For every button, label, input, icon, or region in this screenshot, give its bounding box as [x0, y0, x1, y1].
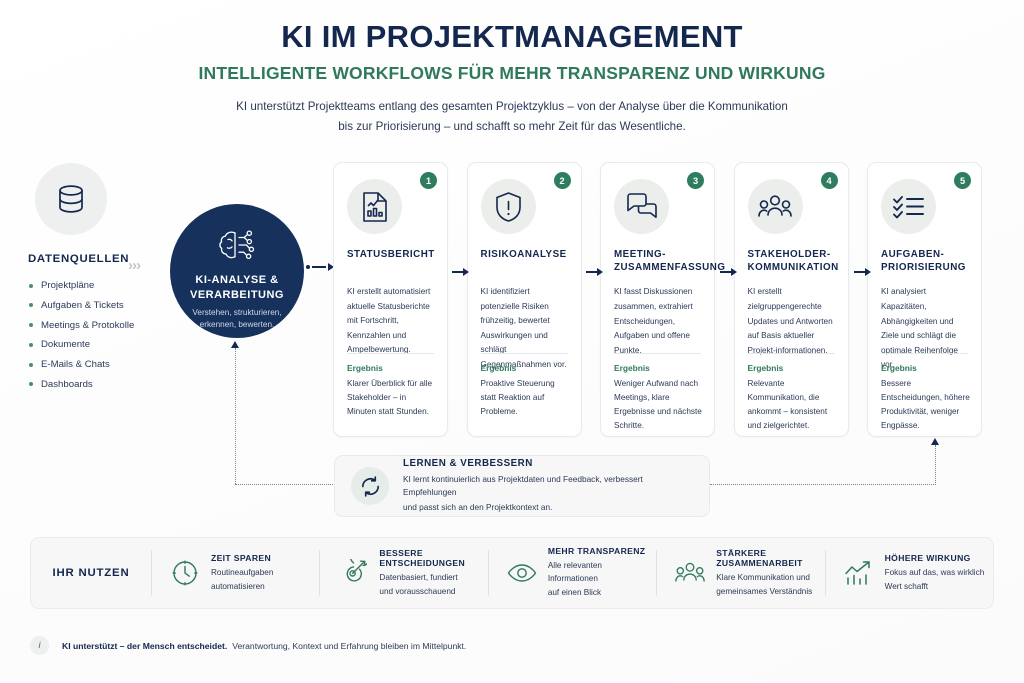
card-title: RISIKOANALYSE — [481, 248, 568, 274]
core-to-card-arrow-icon — [306, 263, 334, 271]
database-icon — [35, 163, 107, 235]
benefit-line-2: automatisieren — [211, 581, 273, 594]
card-result: Ergebnis Weniger Aufwand nach Meetings, … — [614, 363, 703, 433]
benefit-text-block: STÄRKERE ZUSAMMENARBEIT Klare Kommunikat… — [716, 548, 816, 598]
result-text: Relevante Kommunikation, die ankommt – k… — [748, 377, 837, 433]
shield-alert-icon — [481, 179, 536, 234]
list-item: Dashboards — [28, 375, 148, 395]
result-label: Ergebnis — [347, 363, 436, 373]
card-body: KI fasst Diskussionen zusammen, extrahie… — [614, 285, 701, 358]
ai-core-subtitle: Verstehen, strukturieren, erkennen, bewe… — [170, 307, 304, 330]
benefits-bar: IHR NUTZEN ZEIT SPAREN Routineaufgaben a… — [30, 537, 994, 609]
footer-strong-text: KI unterstützt – der Mensch entscheidet. — [62, 641, 227, 651]
card-connector-arrow-icon — [452, 268, 469, 276]
feedback-arrow-head-right-icon — [931, 438, 939, 445]
ai-core-node: KI-ANALYSE & VERARBEITUNG Verstehen, str… — [170, 204, 304, 338]
card-title: STAKEHOLDER-KOMMUNIKATION — [748, 248, 835, 274]
list-item: Dokumente — [28, 335, 148, 355]
data-sources-panel: DATENQUELLEN Projektpläne Aufgaben & Tic… — [28, 163, 148, 395]
benefit-line-2: auf einen Blick — [548, 587, 648, 600]
card-divider — [881, 353, 968, 354]
card-body: KI erstellt automatisiert aktuelle Statu… — [347, 285, 434, 358]
list-item: Projektpläne — [28, 276, 148, 296]
benefit-item-hoehere-wirkung: HÖHERE WIRKUNG Fokus auf das, was wirkli… — [825, 550, 993, 596]
growth-chart-icon — [844, 560, 874, 586]
header: KI IM PROJEKTMANAGEMENT INTELLIGENTE WOR… — [0, 20, 1024, 138]
process-card-aufgaben-priorisierung[interactable]: 5 AUFGABEN-PRIORISIERUNG KI analysiert K… — [867, 162, 982, 437]
benefit-text-block: HÖHERE WIRKUNG Fokus auf das, was wirkli… — [885, 553, 985, 593]
learning-loop-title: LERNEN & VERBESSERN — [403, 458, 693, 469]
result-label: Ergebnis — [748, 363, 837, 373]
page-subtitle: INTELLIGENTE WORKFLOWS FÜR MEHR TRANSPAR… — [0, 63, 1024, 84]
benefit-item-mehr-transparenz: MEHR TRANSPARENZ Alle relevanten Informa… — [488, 550, 656, 596]
process-card-stakeholder-kommunikation[interactable]: 4 STAKEHOLDER-KOMMUNIKATION KI erstellt … — [734, 162, 849, 437]
benefit-line-2: Wert schafft — [885, 581, 985, 594]
card-body: KI identifiziert potenzielle Risiken frü… — [481, 285, 568, 373]
benefit-title: BESSERE ENTSCHEIDUNGEN — [379, 548, 479, 568]
people-group-icon — [675, 561, 705, 585]
step-badge: 4 — [821, 172, 838, 189]
benefit-title: ZEIT SPAREN — [211, 553, 273, 563]
learning-loop-panel: LERNEN & VERBESSERN KI lernt kontinuierl… — [334, 455, 710, 517]
refresh-cycle-icon — [351, 467, 389, 505]
step-badge: 2 — [554, 172, 571, 189]
infographic-root: KI IM PROJEKTMANAGEMENT INTELLIGENTE WOR… — [0, 0, 1024, 683]
ai-brain-circuit-icon — [170, 226, 304, 266]
card-connector-arrow-icon — [854, 268, 871, 276]
benefit-text-block: ZEIT SPAREN Routineaufgaben automatisier… — [211, 553, 273, 593]
result-label: Ergebnis — [881, 363, 970, 373]
process-card-risikoanalyse[interactable]: 2 RISIKOANALYSE KI identifiziert potenzi… — [467, 162, 582, 437]
card-divider — [481, 353, 568, 354]
benefit-line-1: Routineaufgaben — [211, 567, 273, 580]
process-card-statusbericht[interactable]: 1 STATUSBERICHT KI erstellt automatisier… — [333, 162, 448, 437]
benefit-title: HÖHERE WIRKUNG — [885, 553, 985, 563]
intro-line-2: bis zur Priorisierung – und schafft so m… — [212, 117, 812, 137]
benefit-line-1: Fokus auf das, was wirklich — [885, 567, 985, 580]
ai-core-title-line-2: VERARBEITUNG — [170, 288, 304, 303]
card-result: Ergebnis Bessere Entscheidungen, höhere … — [881, 363, 970, 433]
ai-core-title-line-1: KI-ANALYSE & — [170, 273, 304, 288]
eye-icon — [507, 562, 537, 584]
footer-note: i KI unterstützt – der Mensch entscheide… — [30, 636, 466, 655]
process-cards: 1 STATUSBERICHT KI erstellt automatisier… — [333, 162, 993, 437]
list-item: E-Mails & Chats — [28, 355, 148, 375]
benefit-line-2: gemeinsames Verständnis — [716, 586, 816, 599]
benefit-item-staerkere-zusammenarbeit: STÄRKERE ZUSAMMENARBEIT Klare Kommunikat… — [656, 550, 824, 596]
benefit-line-1: Alle relevanten Informationen — [548, 560, 648, 585]
list-item: Meetings & Protokolle — [28, 316, 148, 336]
people-group-icon — [748, 179, 803, 234]
card-body: KI erstellt zielgruppengerechte Updates … — [748, 285, 835, 358]
benefit-title: STÄRKERE ZUSAMMENARBEIT — [716, 548, 816, 568]
feedback-path-right-horizontal — [710, 484, 936, 485]
learning-loop-line-2: und passt sich an den Projektkontext an. — [403, 501, 693, 514]
data-sources-list: Projektpläne Aufgaben & Tickets Meetings… — [28, 276, 148, 395]
card-divider — [347, 353, 434, 354]
benefit-title: MEHR TRANSPARENZ — [548, 546, 648, 556]
info-icon: i — [30, 636, 49, 655]
step-badge: 1 — [420, 172, 437, 189]
card-title: AUFGABEN-PRIORISIERUNG — [881, 248, 968, 274]
card-title: MEETING-ZUSAMMENFASSUNG — [614, 248, 701, 274]
card-connector-arrow-icon — [720, 268, 737, 276]
target-dart-icon — [338, 559, 368, 587]
ai-core-subtitle-line-2: erkennen, bewerten. — [184, 319, 290, 331]
learning-loop-text-block: LERNEN & VERBESSERN KI lernt kontinuierl… — [403, 458, 693, 514]
feedback-path-left-horizontal — [235, 484, 335, 485]
list-item: Aufgaben & Tickets — [28, 296, 148, 316]
learning-loop-line-1: KI lernt kontinuierlich aus Projektdaten… — [403, 473, 693, 500]
footer-text-block: KI unterstützt – der Mensch entscheidet.… — [62, 641, 466, 651]
intro-line-1: KI unterstützt Projektteams entlang des … — [212, 97, 812, 117]
card-result: Ergebnis Proaktive Steuerung statt Reakt… — [481, 363, 570, 419]
result-text: Proaktive Steuerung statt Reaktion auf P… — [481, 377, 570, 419]
result-label: Ergebnis — [614, 363, 703, 373]
card-divider — [614, 353, 701, 354]
footer-regular-text: Verantwortung, Kontext und Erfahrung ble… — [232, 641, 466, 651]
flow-chevrons-icon: ››› — [128, 257, 140, 274]
feedback-path-right-vertical — [935, 445, 936, 485]
step-badge: 3 — [687, 172, 704, 189]
card-body: KI analysiert Kapazitäten, Abhängigkeite… — [881, 285, 968, 373]
result-label: Ergebnis — [481, 363, 570, 373]
step-badge: 5 — [954, 172, 971, 189]
card-result: Ergebnis Relevante Kommunikation, die an… — [748, 363, 837, 433]
ai-core-title: KI-ANALYSE & VERARBEITUNG — [170, 273, 304, 302]
page-title: KI IM PROJEKTMANAGEMENT — [0, 20, 1024, 54]
ai-core-subtitle-line-1: Verstehen, strukturieren, — [184, 307, 290, 319]
benefit-item-zeit-sparen: ZEIT SPAREN Routineaufgaben automatisier… — [151, 550, 319, 596]
intro-paragraph: KI unterstützt Projektteams entlang des … — [212, 97, 812, 138]
checklist-icon — [881, 179, 936, 234]
process-card-meeting-zusammenfassung[interactable]: 3 MEETING-ZUSAMMENFASSUNG KI fasst Disku… — [600, 162, 715, 437]
feedback-arrow-head-left-icon — [231, 341, 239, 348]
result-text: Klarer Überblick für alle Stakeholder – … — [347, 377, 436, 419]
clock-icon — [170, 559, 200, 587]
card-title: STATUSBERICHT — [347, 248, 434, 274]
benefits-label: IHR NUTZEN — [31, 567, 151, 579]
benefit-text-block: BESSERE ENTSCHEIDUNGEN Datenbasiert, fun… — [379, 548, 479, 598]
document-chart-icon — [347, 179, 402, 234]
result-text: Bessere Entscheidungen, höhere Produktiv… — [881, 377, 970, 433]
card-divider — [748, 353, 835, 354]
benefit-text-block: MEHR TRANSPARENZ Alle relevanten Informa… — [548, 546, 648, 599]
chat-bubbles-icon — [614, 179, 669, 234]
benefit-line-1: Klare Kommunikation und — [716, 572, 816, 585]
result-text: Weniger Aufwand nach Meetings, klare Erg… — [614, 377, 703, 433]
feedback-path-left-vertical — [235, 348, 236, 484]
card-connector-arrow-icon — [586, 268, 603, 276]
benefit-line-2: und vorausschauend — [379, 586, 479, 599]
card-result: Ergebnis Klarer Überblick für alle Stake… — [347, 363, 436, 419]
benefit-line-1: Datenbasiert, fundiert — [379, 572, 479, 585]
benefit-item-bessere-entscheidungen: BESSERE ENTSCHEIDUNGEN Datenbasiert, fun… — [319, 550, 487, 596]
